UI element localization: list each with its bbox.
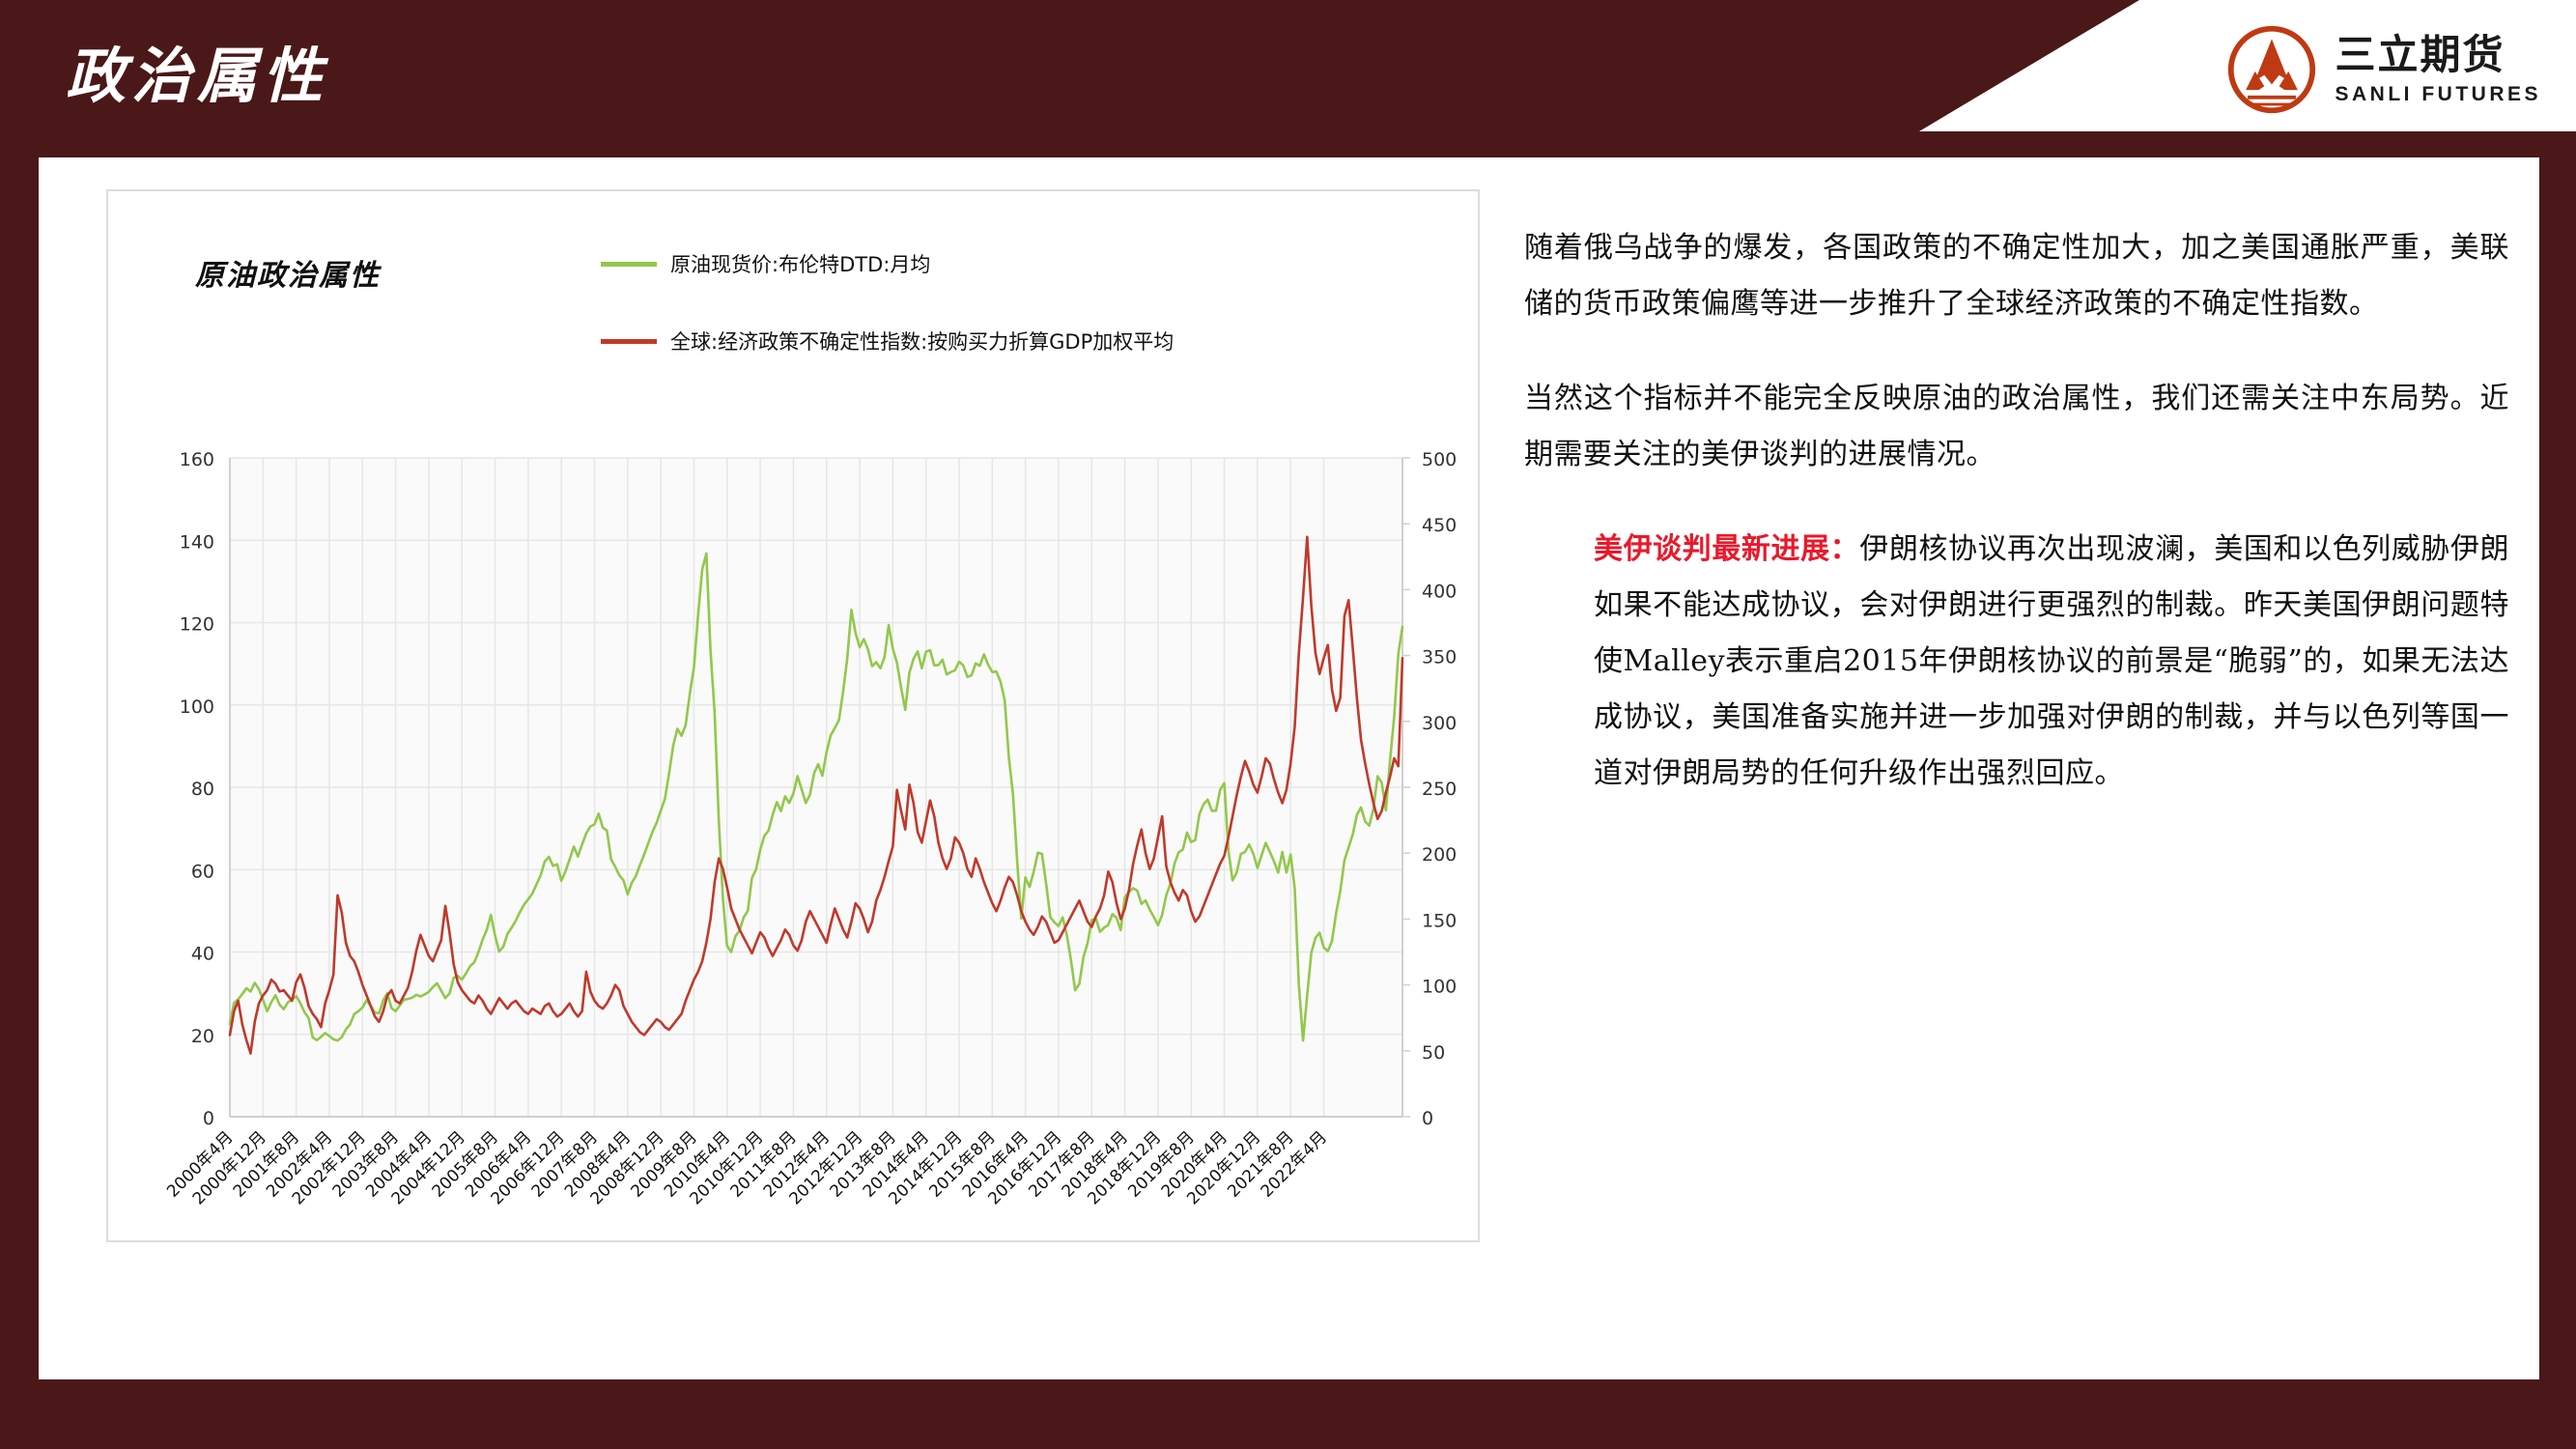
logo-company-name-en: SANLI FUTURES xyxy=(2335,84,2542,104)
y-axis-left-tick: 140 xyxy=(180,531,214,553)
y-axis-left-tick: 120 xyxy=(180,614,214,636)
y-axis-right-tick: 300 xyxy=(1422,713,1457,734)
y-axis-right-tick: 400 xyxy=(1422,581,1457,602)
mountain-circle-logo-icon xyxy=(2225,23,2318,116)
y-axis-right-tick: 0 xyxy=(1422,1108,1433,1129)
y-axis-right-tick: 500 xyxy=(1422,449,1457,470)
logo-company-name-cn: 三立期货 xyxy=(2335,35,2542,75)
y-axis-left-tick: 80 xyxy=(191,779,214,800)
y-axis-right-tick: 150 xyxy=(1422,910,1457,931)
y-axis-left-tick: 160 xyxy=(180,449,214,470)
commentary-highlight-heading: 美伊谈判最新进展： xyxy=(1594,532,1859,566)
y-axis-right-tick: 50 xyxy=(1422,1042,1445,1064)
y-axis-left-tick: 20 xyxy=(191,1026,214,1047)
logo-text-block: 三立期货 SANLI FUTURES xyxy=(2335,35,2542,104)
y-axis-left-tick: 40 xyxy=(191,944,214,965)
chart-panel: 原油政治属性 原油现货价:布伦特DTD:月均 全球:经济政策不确定性指数:按购买… xyxy=(106,189,1480,1242)
y-axis-right-tick: 250 xyxy=(1422,779,1457,800)
y-axis-left-tick: 0 xyxy=(203,1108,214,1129)
commentary-paragraph-2: 当然这个指标并不能完全反映原油的政治属性，我们还需关注中东局势。近期需要关注的美… xyxy=(1524,371,2509,483)
y-axis-right-tick: 200 xyxy=(1422,844,1457,866)
commentary-column: 随着俄乌战争的爆发，各国政策的不确定性加大，加之美国通胀严重，美联储的货币政策偏… xyxy=(1524,220,2509,840)
slide-root: 政治属性 三立期货 SANLI FUTURES 原油政治属性 原油现货价:布伦特… xyxy=(0,0,2576,1449)
y-axis-right-tick: 450 xyxy=(1422,515,1457,536)
y-axis-right-tick: 350 xyxy=(1422,647,1457,668)
y-axis-left-tick: 60 xyxy=(191,861,214,882)
chart-plot-area: 0204060801001201401600501001502002503003… xyxy=(108,191,1482,1244)
commentary-paragraph-3: 美伊谈判最新进展：伊朗核协议再次出现波澜，美国和以色列威胁伊朗如果不能达成协议，… xyxy=(1524,522,2509,802)
y-axis-left-tick: 100 xyxy=(180,696,214,718)
commentary-paragraph-3-body: 伊朗核协议再次出现波澜，美国和以色列威胁伊朗如果不能达成协议，会对伊朗进行更强烈… xyxy=(1594,532,2509,790)
page-title: 政治属性 xyxy=(66,27,328,114)
y-axis-right-tick: 100 xyxy=(1422,977,1457,998)
company-logo: 三立期货 SANLI FUTURES xyxy=(2225,23,2542,116)
slide-header: 政治属性 三立期货 SANLI FUTURES xyxy=(0,0,2576,157)
commentary-paragraph-1: 随着俄乌战争的爆发，各国政策的不确定性加大，加之美国通胀严重，美联储的货币政策偏… xyxy=(1524,220,2509,332)
